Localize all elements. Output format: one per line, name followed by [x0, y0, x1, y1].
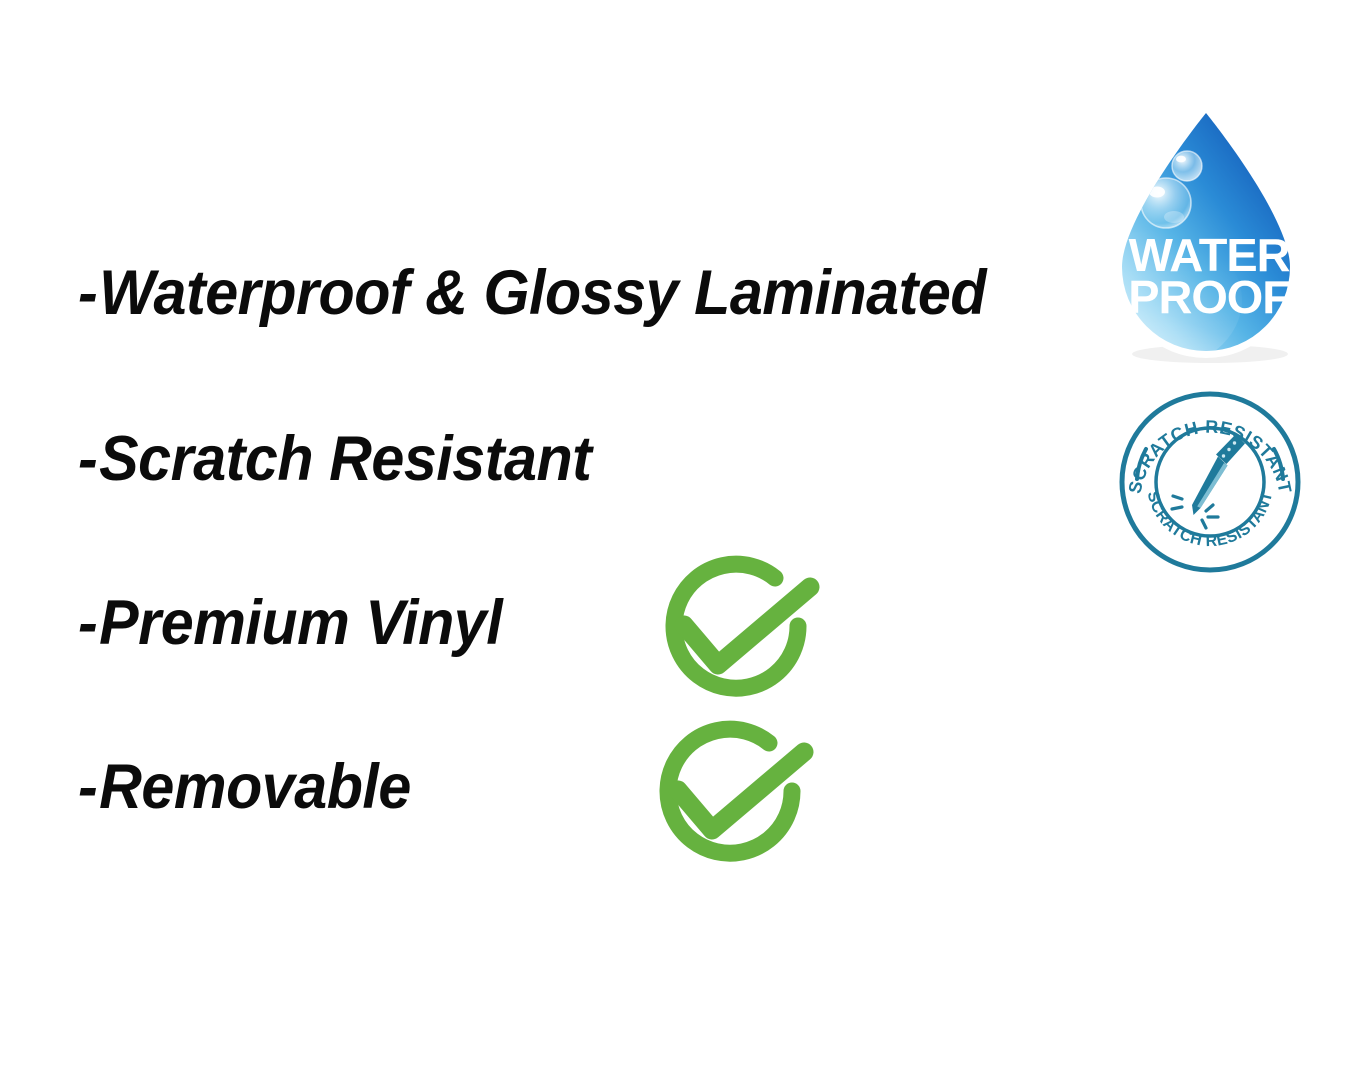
feature-item-scratch-resistant: -Scratch Resistant: [78, 428, 591, 491]
bullet-dash: -: [78, 262, 97, 325]
water-bubble-large-lowlight: [1164, 211, 1184, 223]
check-circle-icon-premium-vinyl: [640, 553, 840, 713]
water-bubble-small-highlight: [1176, 156, 1186, 163]
feature-item-premium-vinyl: -Premium Vinyl: [78, 592, 502, 655]
water-bubble-small: [1172, 151, 1202, 181]
product-feature-graphic: -Waterproof & Glossy Laminated -Scratch …: [0, 0, 1359, 1080]
feature-item-removable: -Removable: [78, 756, 411, 819]
bullet-dash: -: [78, 592, 97, 655]
feature-label: Scratch Resistant: [99, 424, 591, 494]
bullet-dash: -: [78, 756, 97, 819]
check-circle-icon-removable: [634, 718, 834, 878]
feature-label: Waterproof & Glossy Laminated: [99, 258, 986, 328]
feature-label: Removable: [99, 752, 411, 822]
bullet-dash: -: [78, 428, 97, 491]
waterproof-badge: WATER PROOF: [1104, 104, 1309, 366]
knife-icon: [1192, 435, 1245, 516]
scratch-resistant-badge: SCRATCH RESISTANT SCRATCH RESISTANT: [1114, 387, 1306, 577]
stamp-bottom-arc-text: SCRATCH RESISTANT: [1144, 490, 1277, 550]
waterproof-line2: PROOF: [1128, 271, 1290, 322]
feature-item-waterproof: -Waterproof & Glossy Laminated: [78, 262, 986, 325]
feature-label: Premium Vinyl: [99, 588, 502, 658]
